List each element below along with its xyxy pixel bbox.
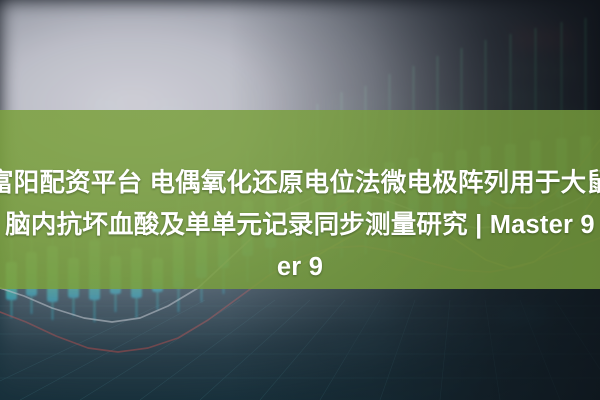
- headline-line-3: er 9: [0, 246, 600, 288]
- headline-line-2: 脑内抗坏血酸及单单元记录同步测量研究 | Master 9: [5, 204, 595, 246]
- headline-line-1: 富阳配资平台 电偶氧化还原电位法微电极阵列用于大鼠: [0, 162, 600, 204]
- headline-text: 富阳配资平台 电偶氧化还原电位法微电极阵列用于大鼠 脑内抗坏血酸及单单元记录同步…: [0, 110, 600, 289]
- banner-image: 富阳配资平台 电偶氧化还原电位法微电极阵列用于大鼠 脑内抗坏血酸及单单元记录同步…: [0, 0, 600, 400]
